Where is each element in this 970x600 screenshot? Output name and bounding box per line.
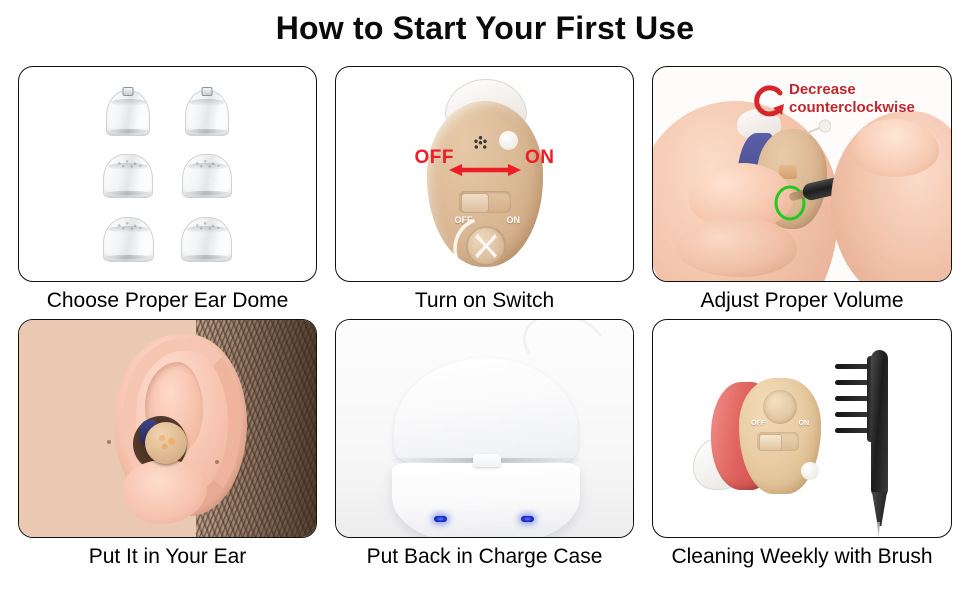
brush-wire-pick-icon [877, 522, 880, 538]
volume-adjust-illustration: Decrease counterclockwise [653, 67, 951, 281]
ear-dome-small-1 [106, 90, 150, 136]
index-finger [677, 217, 797, 277]
step-panel-5 [335, 319, 634, 538]
skin-mole [215, 460, 219, 464]
cleaning-illustration: OFF ON [653, 320, 951, 537]
ear-dome-large-2 [181, 217, 232, 262]
case-shadow [398, 536, 574, 538]
switch-knob [759, 434, 782, 451]
steps-grid: Choose Proper Ear Dome OFF ON [18, 66, 952, 570]
brush-taper [872, 492, 887, 526]
step-caption-1: Choose Proper Ear Dome [47, 288, 289, 314]
step-caption-5: Put Back in Charge Case [367, 544, 603, 570]
hearing-aid-switch-illustration: OFF ON OFF ON [336, 67, 633, 281]
battery-port [499, 131, 518, 150]
device-switch-on-label: ON [507, 215, 521, 225]
volume-wheel [763, 390, 797, 424]
inserted-aid-controls [155, 432, 179, 452]
skin-mole [107, 440, 111, 444]
dome-tip-icon [807, 119, 831, 139]
counterclockwise-arrow-icon [749, 81, 789, 123]
step-panel-2: OFF ON OFF ON [335, 66, 634, 282]
step-card-choose-ear-dome: Choose Proper Ear Dome [18, 66, 317, 314]
step-caption-6: Cleaning Weekly with Brush [671, 544, 932, 570]
infographic-root: How to Start Your First Use [0, 0, 970, 600]
ear-dome-small-2 [185, 90, 229, 136]
right-thumb [851, 119, 939, 177]
ear-domes-grid [19, 67, 316, 281]
step-panel-6: OFF ON [652, 319, 952, 538]
step-panel-3: Decrease counterclockwise [652, 66, 952, 282]
ear-dome-medium-1 [103, 154, 153, 198]
volume-direction-note: Decrease counterclockwise [789, 81, 915, 117]
step-card-put-in-ear: Put It in Your Ear [18, 319, 317, 570]
ear-domes-illustration [19, 67, 316, 281]
hearing-aid-device: OFF ON OFF ON [419, 79, 551, 271]
step-card-cleaning-brush: OFF ON Cl [652, 319, 952, 570]
switch-travel-curve-icon [443, 219, 479, 267]
device-switch-labels: OFF ON [751, 420, 809, 427]
note-line-1: Decrease [789, 81, 915, 99]
case-latch-button[interactable] [473, 454, 501, 467]
power-slider-switch[interactable] [459, 191, 511, 213]
switch-knob[interactable] [461, 193, 489, 213]
on-annotation-label: ON [525, 147, 555, 169]
dome-nub-icon [201, 87, 212, 96]
step-card-turn-on-switch: OFF ON OFF ON [335, 66, 634, 314]
note-line-2: counterclockwise [789, 99, 915, 117]
step-card-adjust-volume: Decrease counterclockwise Adjust Proper … [652, 66, 952, 314]
case-base [392, 462, 580, 538]
double-arrow-icon [449, 163, 521, 177]
step-caption-3: Adjust Proper Volume [700, 288, 903, 314]
device-switch-on-label: ON [799, 420, 810, 427]
step-panel-1 [18, 66, 317, 282]
charge-led-left [434, 516, 447, 522]
device-switch-off-label: OFF [751, 420, 765, 427]
step-panel-4 [18, 319, 317, 538]
step-caption-2: Turn on Switch [415, 288, 554, 314]
power-slider-switch [757, 432, 799, 451]
ear-dome-large-1 [103, 217, 154, 262]
aid-sound-outlet [801, 462, 819, 480]
ear-dome-medium-2 [182, 154, 232, 198]
step-card-charge-case: Put Back in Charge Case [335, 319, 634, 570]
microphone-grille-icon [473, 135, 488, 150]
page-title: How to Start Your First Use [0, 10, 970, 47]
charge-led-right [521, 516, 534, 522]
charging-case-illustration [336, 320, 633, 537]
cleaning-brush-handle [871, 350, 888, 498]
case-lid [394, 358, 578, 462]
dome-nub-icon [123, 87, 134, 96]
ear-photo-illustration [19, 320, 316, 537]
step-caption-4: Put It in Your Ear [89, 544, 247, 570]
